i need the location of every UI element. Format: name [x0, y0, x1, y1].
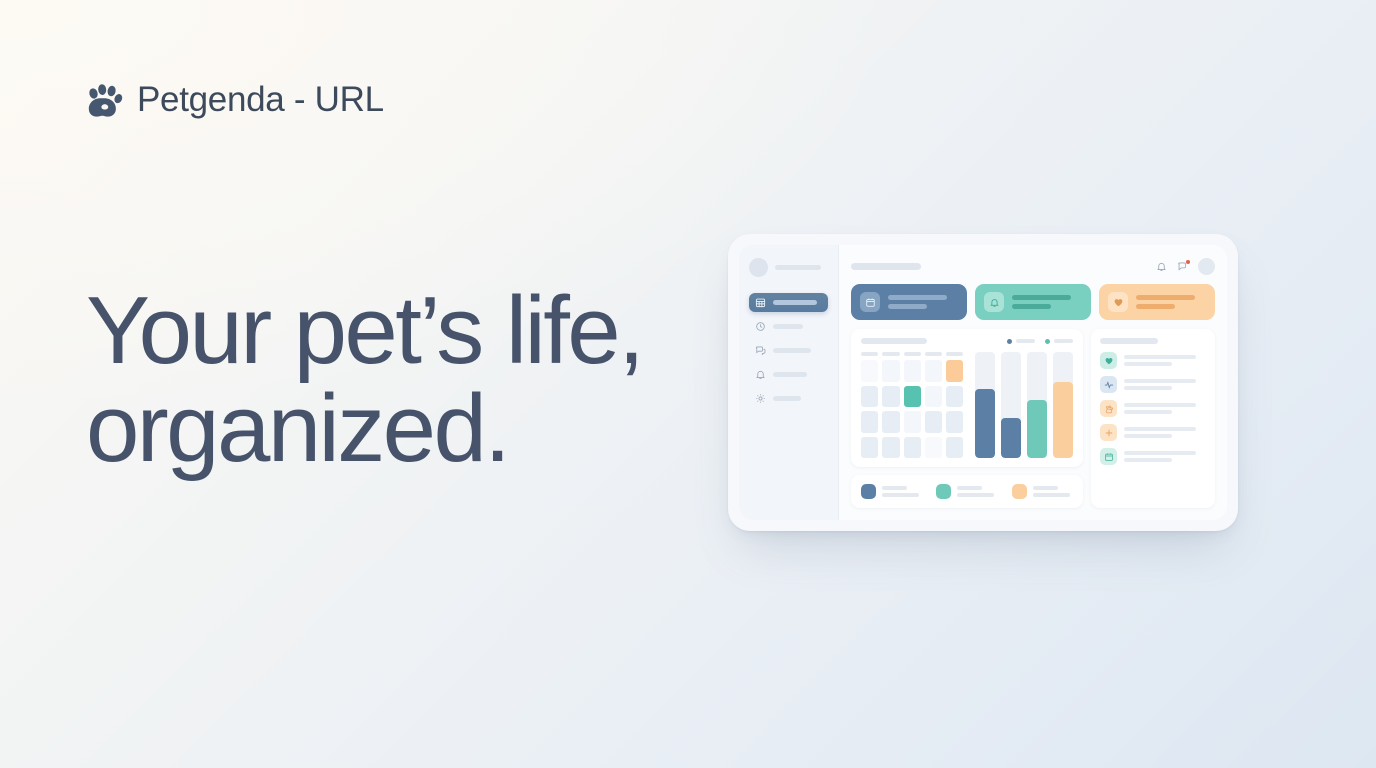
avatar[interactable]: [1198, 258, 1215, 275]
bar-track: [1027, 352, 1047, 458]
paw-print-icon: [84, 80, 124, 120]
stat-card-reminders[interactable]: [975, 284, 1091, 320]
heart-icon: [1108, 292, 1128, 312]
calendar-cell[interactable]: [904, 411, 921, 433]
clock-icon: [755, 321, 766, 332]
mockup-main: [839, 245, 1227, 520]
topbar-actions: [1156, 258, 1215, 275]
sidebar-item-settings[interactable]: [749, 389, 828, 408]
heart-icon: [1100, 352, 1117, 369]
bar-chart: [975, 352, 1073, 458]
activity-list: [1100, 352, 1206, 499]
content-left-column: [851, 329, 1083, 508]
calendar-cells: [861, 360, 963, 458]
calendar-cell[interactable]: [882, 411, 899, 433]
list-item[interactable]: [1100, 448, 1206, 465]
sidebar-item-label: [773, 396, 801, 401]
calendar-grid: [861, 352, 963, 458]
stat-card-health[interactable]: [1099, 284, 1215, 320]
headline-line-2: organized.: [86, 380, 642, 478]
app-mockup: [728, 234, 1238, 531]
activity-icon: [1100, 376, 1117, 393]
legend-entry[interactable]: [936, 484, 997, 499]
calendar-cell[interactable]: [904, 360, 921, 382]
brand-name: Petgenda - URL: [137, 80, 384, 120]
legend-entry[interactable]: [861, 484, 922, 499]
chart-title-placeholder: [861, 338, 927, 344]
calendar-cell[interactable]: [861, 386, 878, 408]
mockup-content: [851, 329, 1215, 508]
chart-panel-header: [861, 338, 1073, 344]
sidebar-item-messages[interactable]: [749, 341, 828, 360]
bell-icon: [984, 292, 1004, 312]
sidebar-item-label: [773, 372, 807, 377]
bar-track: [975, 352, 995, 458]
list-item[interactable]: [1100, 400, 1206, 417]
calendar-cell[interactable]: [861, 411, 878, 433]
sidebar-profile-label: [775, 265, 821, 270]
sidebar-item-label: [773, 300, 817, 305]
stat-card-text: [1136, 295, 1206, 309]
mockup-sidebar: [739, 245, 839, 520]
list-item[interactable]: [1100, 352, 1206, 369]
stat-card-text: [1012, 295, 1082, 309]
list-item[interactable]: [1100, 424, 1206, 441]
bar-track: [1053, 352, 1073, 458]
sidebar-item-label: [773, 348, 811, 353]
legend-panel: [851, 475, 1083, 508]
calendar-cell[interactable]: [925, 360, 942, 382]
bar-3: [1027, 400, 1047, 458]
sidebar-item-reminders[interactable]: [749, 365, 828, 384]
topbar-title-placeholder: [851, 263, 921, 270]
headline-line-1: Your pet’s life,: [86, 282, 642, 380]
brand-lockup: Petgenda - URL: [84, 80, 384, 120]
chat-icon: [755, 345, 766, 356]
chart-body: [861, 352, 1073, 458]
calendar-cell[interactable]: [882, 437, 899, 459]
sidebar-item-schedule[interactable]: [749, 317, 828, 336]
sidebar-item-label: [773, 324, 803, 329]
calendar-cell[interactable]: [882, 360, 899, 382]
calendar-cell-highlight[interactable]: [946, 360, 963, 382]
bar-track: [1001, 352, 1021, 458]
stat-card-text: [888, 295, 958, 309]
calendar-weekday-row: [861, 352, 963, 356]
list-panel-title-placeholder: [1100, 338, 1158, 344]
bell-icon[interactable]: [1156, 261, 1167, 272]
bar-4: [1053, 382, 1073, 458]
plus-icon: [1100, 424, 1117, 441]
legend-item: [1045, 339, 1073, 344]
avatar: [749, 258, 768, 277]
calendar-cell[interactable]: [925, 411, 942, 433]
bar-2: [1001, 418, 1021, 458]
paw-icon: [1100, 400, 1117, 417]
calendar-cell[interactable]: [946, 411, 963, 433]
notification-badge: [1186, 260, 1190, 264]
calendar-cell[interactable]: [904, 437, 921, 459]
list-item[interactable]: [1100, 376, 1206, 393]
calendar-cell-selected[interactable]: [904, 386, 921, 408]
chart-panel: [851, 329, 1083, 467]
message-icon[interactable]: [1177, 261, 1188, 272]
calendar-icon: [860, 292, 880, 312]
mockup-topbar: [851, 258, 1215, 275]
calendar-cell[interactable]: [861, 437, 878, 459]
activity-list-panel: [1091, 329, 1215, 508]
calendar-cell[interactable]: [925, 437, 942, 459]
bell-icon: [755, 369, 766, 380]
calendar-cell[interactable]: [925, 386, 942, 408]
bar-1: [975, 389, 995, 458]
page-title: Your pet’s life, organized.: [86, 282, 642, 478]
sidebar-item-calendar[interactable]: [749, 293, 828, 312]
calendar-cell[interactable]: [946, 386, 963, 408]
calendar-cell[interactable]: [882, 386, 899, 408]
gear-icon: [755, 393, 766, 404]
app-screen: [739, 245, 1227, 520]
stat-card-row: [851, 284, 1215, 320]
calendar-icon: [1100, 448, 1117, 465]
stat-card-appointments[interactable]: [851, 284, 967, 320]
calendar-cell[interactable]: [861, 360, 878, 382]
calendar-cell[interactable]: [946, 437, 963, 459]
legend-item: [1007, 339, 1035, 344]
sidebar-profile[interactable]: [749, 258, 828, 277]
legend-entry[interactable]: [1012, 484, 1073, 499]
legend-row: [861, 484, 1073, 499]
chart-legend: [1007, 339, 1073, 344]
calendar-grid-icon: [755, 297, 766, 308]
